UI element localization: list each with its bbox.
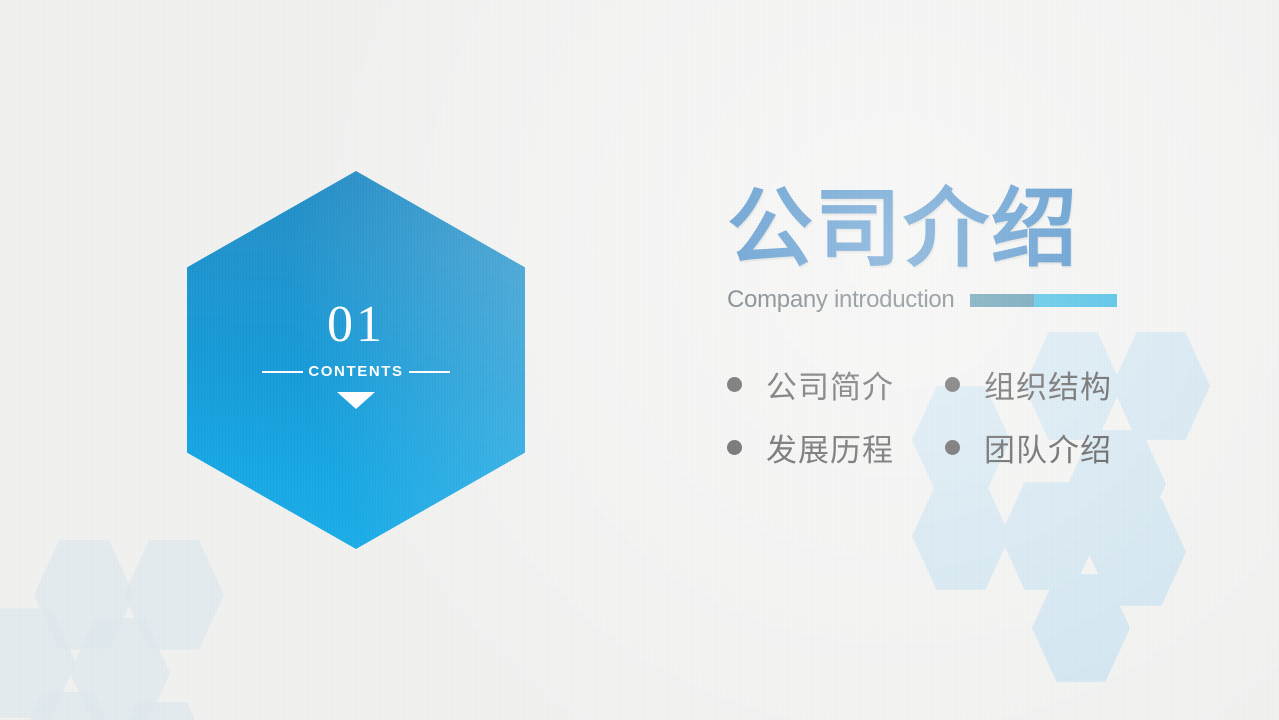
contents-list: 公司简介 组织结构 发展历程 团队介绍 — [727, 362, 1247, 470]
divider-line-right — [409, 371, 450, 373]
decorative-hexagon — [18, 690, 118, 720]
list-item[interactable]: 组织结构 — [945, 362, 1163, 407]
page-title: 公司介绍 — [727, 186, 1247, 272]
bullet-icon — [945, 440, 960, 455]
list-item[interactable]: 团队介绍 — [945, 425, 1163, 470]
decorative-hexagon — [0, 606, 76, 720]
decorative-hexagon — [112, 700, 212, 720]
accent-bar-segment-left — [970, 294, 1034, 307]
decorative-hexagon — [124, 538, 224, 652]
list-item[interactable]: 发展历程 — [727, 425, 945, 470]
divider-line-left — [262, 371, 303, 373]
accent-bar-segment-right — [1034, 294, 1117, 307]
hexagon-content: 01 CONTENTS — [187, 171, 525, 549]
section-number: 01 — [327, 299, 385, 351]
list-item-label: 公司简介 — [766, 362, 894, 407]
list-item-label: 发展历程 — [766, 425, 894, 470]
contents-label: CONTENTS — [303, 363, 408, 380]
bullet-icon — [727, 377, 742, 392]
bullet-icon — [727, 440, 742, 455]
accent-bar — [970, 294, 1117, 307]
list-item-label: 团队介绍 — [984, 425, 1112, 470]
slide-header-block: 公司介绍 Company introduction 公司简介 组织结构 发展历程 — [727, 186, 1247, 470]
list-item[interactable]: 公司简介 — [727, 362, 945, 407]
decorative-hexagon — [1088, 496, 1186, 608]
decorative-hexagon — [34, 538, 134, 652]
bullet-icon — [945, 377, 960, 392]
decorative-hexagon — [912, 480, 1010, 592]
decorative-hexagon — [70, 616, 170, 720]
section-number-hexagon: 01 CONTENTS — [187, 171, 525, 549]
presentation-slide: 01 CONTENTS 公司介绍 Company introduction 公司… — [0, 0, 1279, 720]
subtitle-row: Company introduction — [727, 286, 1247, 314]
decorative-hexagon — [1000, 480, 1098, 592]
chevron-down-icon — [337, 392, 375, 409]
decorative-hexagon — [1032, 572, 1130, 684]
list-item-label: 组织结构 — [984, 362, 1112, 407]
page-subtitle: Company introduction — [727, 286, 954, 314]
contents-label-row: CONTENTS — [262, 363, 450, 380]
